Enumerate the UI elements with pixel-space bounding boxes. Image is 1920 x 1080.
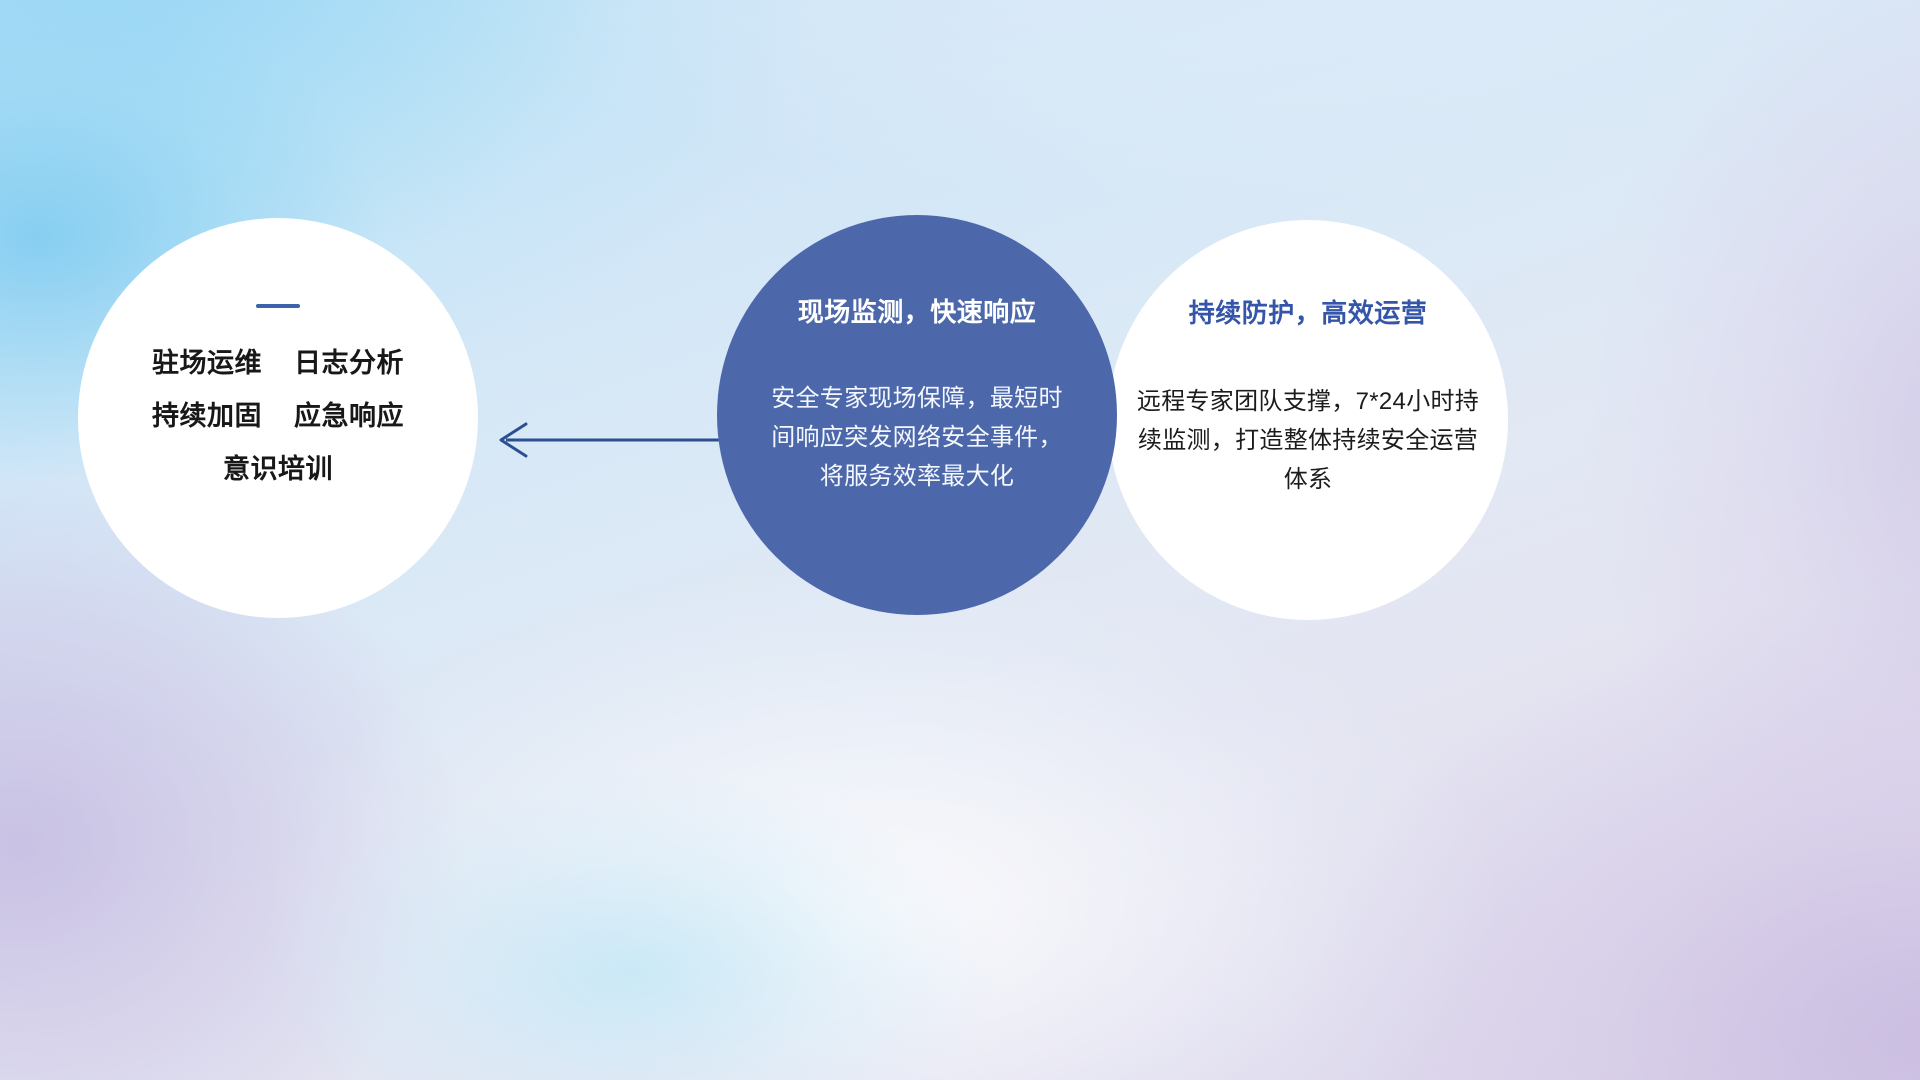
card-onsite-monitoring[interactable]: 现场监测，快速响应 安全专家现场保障，最短时间响应突发网络安全事件，将服务效率最…	[717, 215, 1117, 615]
card-title: 持续防护，高效运营	[1189, 298, 1428, 329]
list-item: 持续加固 应急响应	[152, 403, 404, 430]
list-item: 驻场运维 日志分析	[152, 350, 404, 377]
card-body: 安全专家现场保障，最短时间响应突发网络安全事件，将服务效率最大化	[767, 380, 1067, 497]
title-divider-dash	[256, 304, 300, 308]
card-continuous-operations[interactable]: 持续防护，高效运营 远程专家团队支撑，7*24小时持续监测，打造整体持续安全运营…	[1108, 220, 1508, 620]
flow-arrow-left	[470, 408, 750, 472]
list-item: 意识培训	[152, 456, 404, 483]
card-title: 现场监测，快速响应	[798, 297, 1037, 328]
card-body: 远程专家团队支撑，7*24小时持续监测，打造整体持续安全运营体系	[1132, 383, 1484, 500]
capability-keyword-list: 驻场运维 日志分析 持续加固 应急响应 意识培训	[152, 350, 404, 483]
slide-canvas: 驻场运维 日志分析 持续加固 应急响应 意识培训 持续防护，高效运营 远程专家团…	[0, 0, 1920, 1080]
card-onsite-capabilities[interactable]: 驻场运维 日志分析 持续加固 应急响应 意识培训	[78, 218, 478, 618]
